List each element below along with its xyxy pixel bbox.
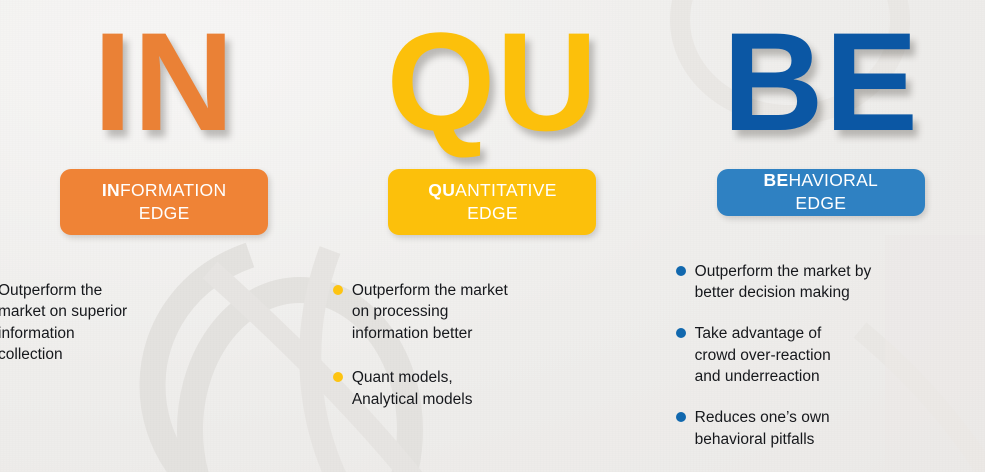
label-line2-be: EDGE (795, 193, 846, 213)
big-letters-qu: QU (386, 12, 598, 152)
bullet-text: Take advantage of crowd over-reaction an… (695, 323, 831, 387)
label-lead-qu: QU (428, 180, 455, 200)
column-behavioral: BE BEHAVIORAL EDGE Outperform the market… (657, 0, 985, 472)
list-item: Reduces one’s own behavioral pitfalls (676, 407, 985, 450)
label-pill-behavioral: BEHAVIORAL EDGE (717, 169, 925, 216)
label-lead-be: BE (764, 170, 789, 190)
bullet-dot-icon (676, 412, 686, 422)
column-information: IN INFORMATION EDGE Outperform the marke… (0, 0, 328, 472)
list-item: Quant models, Analytical models (333, 367, 661, 410)
bullet-text: Outperform the market on superior inform… (0, 280, 127, 366)
label-rest-be: HAVIORAL (788, 170, 878, 190)
bullet-text: Outperform the market by better decision… (695, 261, 872, 304)
bullet-dot-icon (676, 328, 686, 338)
label-line2-qu: EDGE (467, 203, 518, 223)
bullet-list-behavioral: Outperform the market by better decision… (620, 261, 985, 471)
label-rest-in: FORMATION (120, 180, 226, 200)
label-pill-information: INFORMATION EDGE (60, 169, 268, 235)
label-pill-text: QUANTITATIVE EDGE (428, 179, 556, 226)
label-pill-quantitative: QUANTITATIVE EDGE (388, 169, 596, 235)
label-pill-text: BEHAVIORAL EDGE (764, 169, 879, 216)
bullet-dot-icon (333, 372, 343, 382)
bullet-text: Outperform the market on processing info… (352, 280, 508, 344)
bullet-text: Reduces one’s own behavioral pitfalls (695, 407, 830, 450)
column-quantitative: QU QUANTITATIVE EDGE Outperform the mark… (328, 0, 656, 472)
list-item: Outperform the market on superior inform… (0, 280, 307, 366)
list-item: Take advantage of crowd over-reaction an… (676, 323, 985, 387)
bullet-dot-icon (333, 285, 343, 295)
big-letters-be: BE (723, 12, 919, 152)
label-pill-text: INFORMATION EDGE (102, 179, 227, 226)
label-line2-in: EDGE (139, 203, 190, 223)
bullet-dot-icon (676, 266, 686, 276)
label-rest-qu: ANTITATIVE (455, 180, 557, 200)
slide-canvas: IN INFORMATION EDGE Outperform the marke… (0, 0, 985, 472)
list-item: Outperform the market on processing info… (333, 280, 661, 344)
bullet-text: Quant models, Analytical models (352, 367, 473, 410)
list-item: Outperform the market by better decision… (676, 261, 985, 304)
edges-columns: IN INFORMATION EDGE Outperform the marke… (0, 0, 985, 472)
big-letters-in: IN (93, 12, 235, 152)
label-lead-in: IN (102, 180, 120, 200)
